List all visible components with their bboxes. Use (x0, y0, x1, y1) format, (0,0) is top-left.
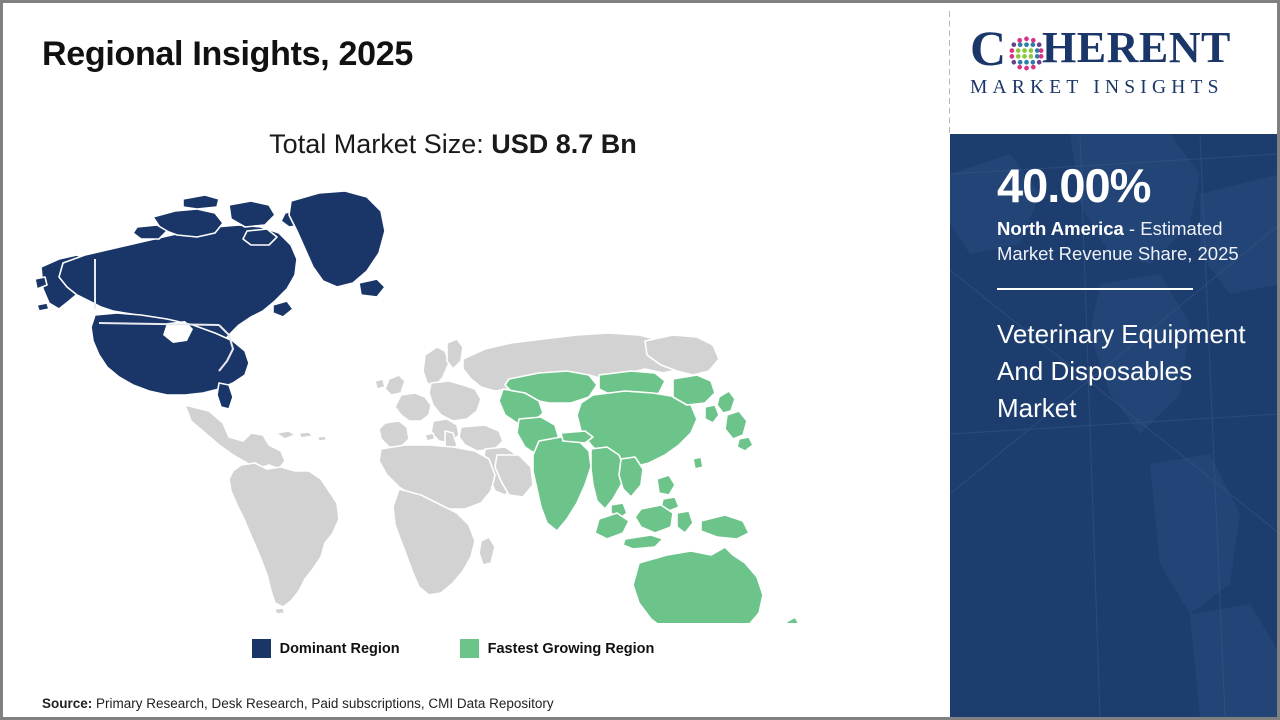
total-market-size: Total Market Size: USD 8.7 Bn (3, 129, 903, 160)
world-map-container (33, 183, 843, 623)
brand-logo: C (950, 3, 1280, 134)
share-region-name: North America (997, 218, 1124, 239)
square-swatch-icon (460, 639, 479, 658)
page-title: Regional Insights, 2025 (42, 35, 413, 74)
logo-wordmark: C (970, 27, 1262, 75)
market-name: Veterinary Equipment And Disposables Mar… (997, 316, 1259, 427)
stat-panel: 40.00% North America - Estimated Market … (950, 134, 1280, 717)
source-label: Source: (42, 696, 92, 711)
world-map (33, 183, 843, 623)
legend-item-dominant: Dominant Region (252, 639, 400, 658)
regional-insights-infographic: Regional Insights, 2025 Total Market Siz… (0, 0, 1280, 720)
left-content-panel: Regional Insights, 2025 Total Market Siz… (3, 3, 950, 717)
logo-word-coherent: HERENT (1042, 26, 1231, 70)
map-region-north-america (35, 191, 385, 409)
share-percentage: 40.00% (997, 162, 1262, 210)
legend-label-dominant: Dominant Region (280, 641, 400, 657)
logo-subtitle: MARKET INSIGHTS (970, 77, 1262, 99)
source-footer: Source: Primary Research, Desk Research,… (42, 696, 554, 711)
map-region-asia-pacific (499, 371, 809, 623)
total-market-size-label: Total Market Size: (269, 129, 484, 159)
logo-letter-c: C (970, 23, 1006, 73)
total-market-size-value: USD 8.7 Bn (491, 129, 637, 159)
panel-divider-rule (997, 288, 1193, 290)
square-swatch-icon (252, 639, 271, 658)
source-text: Primary Research, Desk Research, Paid su… (92, 696, 553, 711)
dotted-globe-icon (1007, 33, 1046, 72)
legend-label-fastest-growing: Fastest Growing Region (488, 641, 655, 657)
legend-item-fastest-growing: Fastest Growing Region (460, 639, 655, 658)
share-caption: North America - Estimated Market Revenue… (997, 216, 1262, 266)
map-legend: Dominant Region Fastest Growing Region (3, 639, 903, 658)
